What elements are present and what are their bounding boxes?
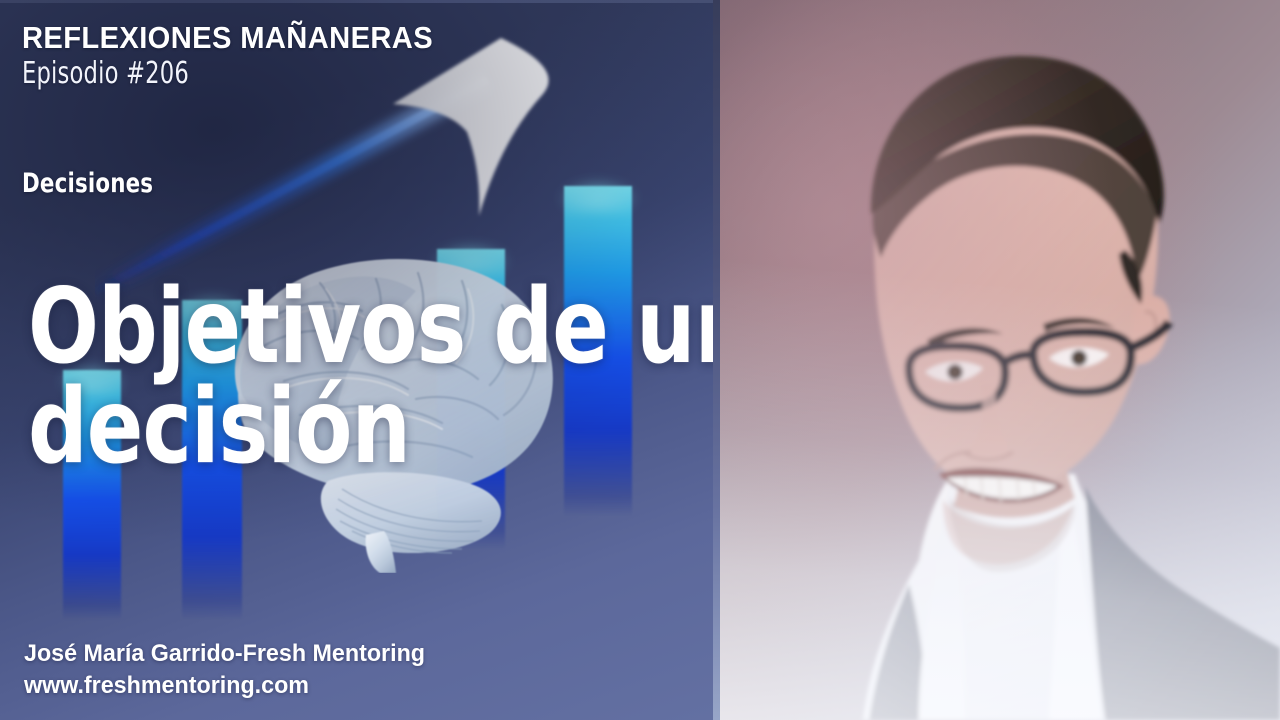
footer-credits: José María Garrido-Fresh Mentoring www.f… [24,638,437,702]
page-title: Objetivos de una decisión [28,278,708,478]
thumbnail-canvas: REFLEXIONES MAÑANERAS Episodio #206 Deci… [0,0,1280,720]
title-line-1: Objetivos de una [28,278,640,378]
episode-number: Episodio #206 [22,56,189,91]
left-content-panel: REFLEXIONES MAÑANERAS Episodio #206 Deci… [0,0,713,720]
portrait-panel [713,0,1280,720]
host-portrait-photo [713,0,1280,720]
host-name: José María Garrido-Fresh Mentoring [24,638,425,670]
topic-label: Decisiones [22,168,153,199]
title-line-2: decisión [28,378,640,478]
show-name: REFLEXIONES MAÑANERAS [22,20,433,56]
portrait-left-strip [713,0,720,720]
website-url: www.freshmentoring.com [24,670,425,702]
